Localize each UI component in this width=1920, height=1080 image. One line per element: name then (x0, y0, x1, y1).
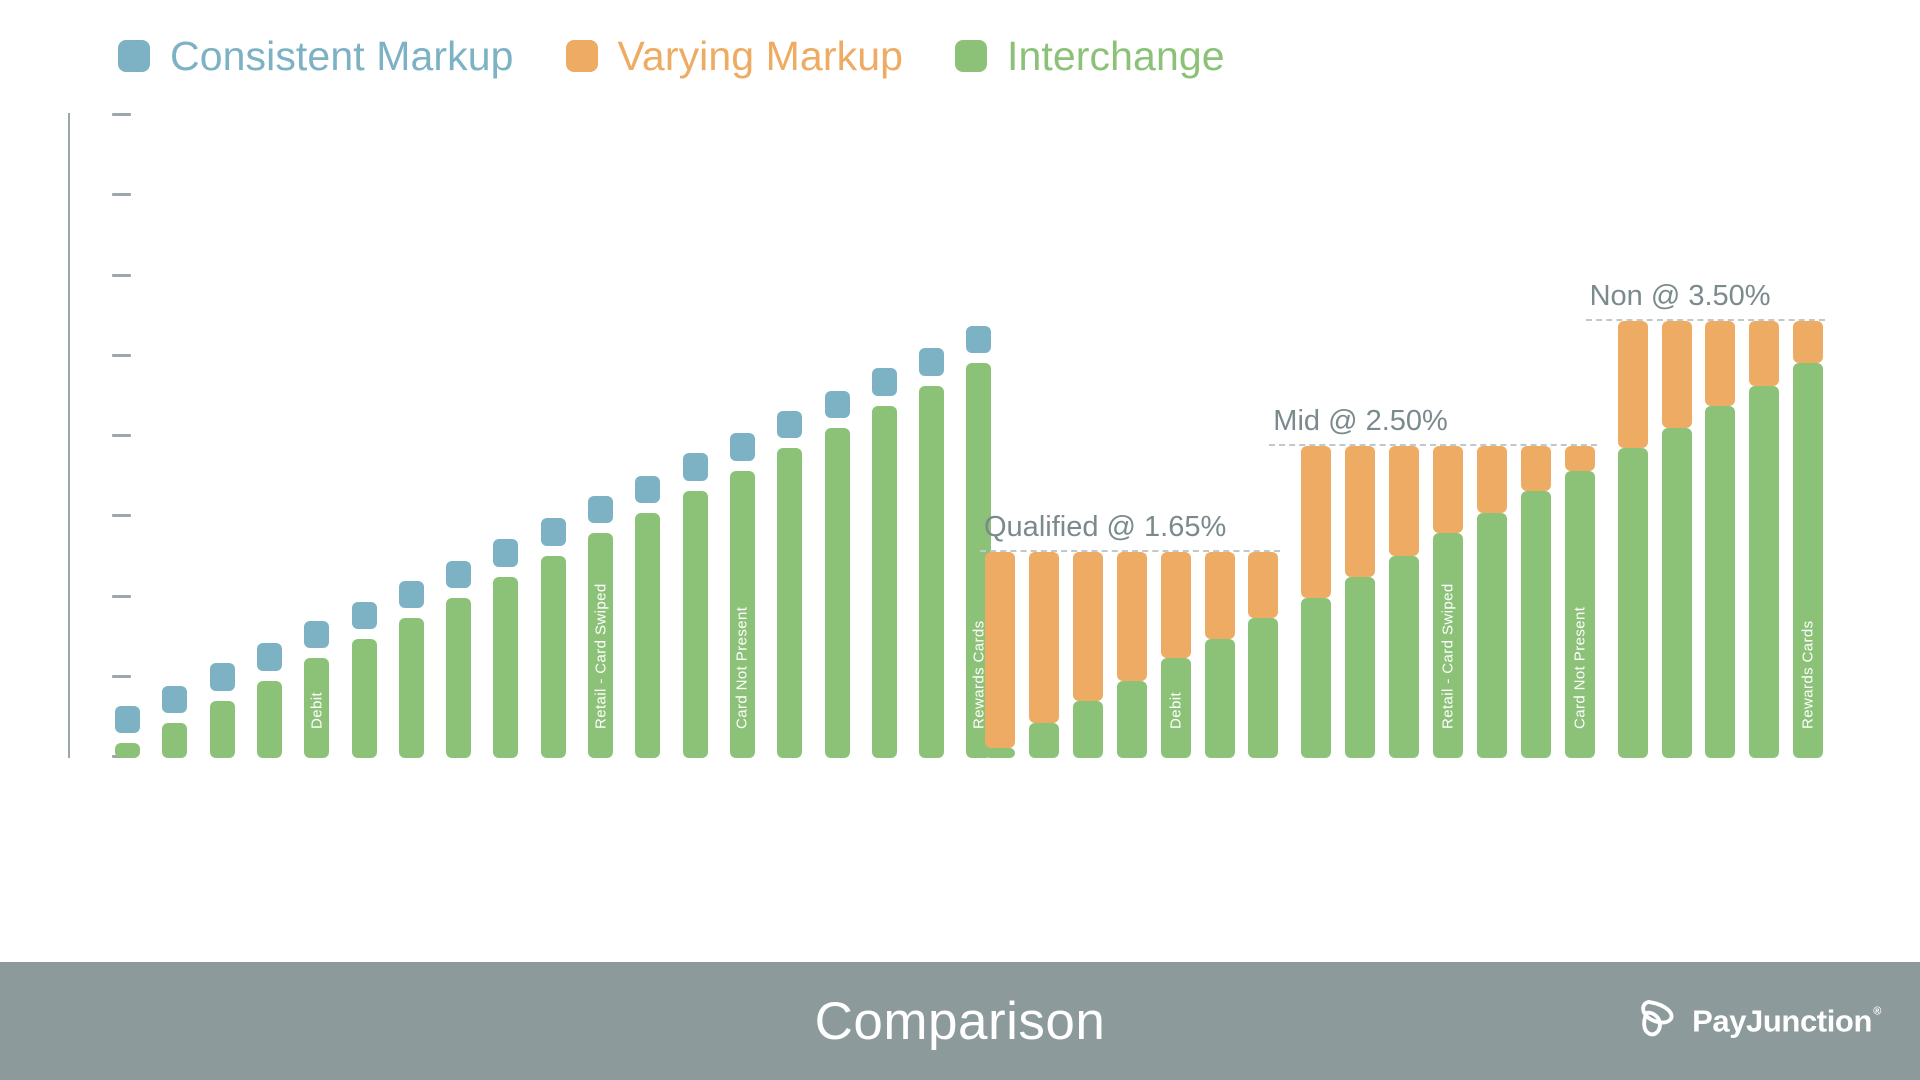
bar-group[interactable] (872, 757, 897, 758)
bar-segment-varying-markup[interactable] (1117, 552, 1147, 681)
bar-group[interactable] (446, 757, 471, 758)
slide-footer-bar: Comparison PayJunction ® (0, 962, 1920, 1080)
bar-segment-consistent-markup[interactable] (635, 476, 660, 504)
bar-group[interactable] (493, 757, 518, 758)
bar-segment-consistent-markup[interactable] (446, 561, 471, 589)
bar-segment-varying-markup[interactable] (1205, 552, 1235, 640)
bar-group[interactable] (352, 757, 377, 758)
bar-group[interactable] (1117, 757, 1147, 758)
bar-segment-interchange[interactable] (683, 491, 708, 759)
bar-segment-interchange[interactable] (115, 743, 140, 758)
bar-segment-consistent-markup[interactable] (683, 453, 708, 481)
bar-segment-interchange[interactable] (985, 748, 1015, 758)
bar-group[interactable] (1618, 757, 1648, 758)
tier-reference-line (980, 550, 1280, 552)
bar-segment-interchange[interactable] (1301, 598, 1331, 758)
bar-segment-consistent-markup[interactable] (919, 348, 944, 376)
bar-segment-consistent-markup[interactable] (825, 391, 850, 419)
bar-group[interactable] (1301, 757, 1331, 758)
bar-group[interactable]: Card Not Present (1565, 757, 1595, 758)
bar-segment-interchange[interactable] (493, 577, 518, 758)
y-axis-line (68, 113, 70, 758)
bar-segment-interchange[interactable] (825, 428, 850, 758)
bar-group[interactable] (399, 757, 424, 758)
bar-segment-interchange[interactable] (1705, 406, 1735, 759)
bar-group[interactable]: Debit (1161, 757, 1191, 758)
y-axis-tick (112, 675, 131, 678)
bar-segment-interchange[interactable] (162, 723, 187, 758)
bar-segment-consistent-markup[interactable] (257, 643, 282, 671)
bar-segment-interchange[interactable] (1433, 533, 1463, 758)
bar-segment-varying-markup[interactable] (1389, 446, 1419, 556)
bar-segment-interchange[interactable] (588, 533, 613, 758)
bar-group[interactable] (1662, 757, 1692, 758)
bar-segment-interchange[interactable] (446, 598, 471, 758)
bar-segment-interchange[interactable] (635, 513, 660, 758)
bar-segment-varying-markup[interactable] (1618, 321, 1648, 449)
bar-segment-varying-markup[interactable] (1073, 552, 1103, 701)
bar-segment-varying-markup[interactable] (1345, 446, 1375, 577)
bar-segment-interchange[interactable] (1205, 639, 1235, 758)
tier-annotation-2: Non @ 3.50% (1586, 267, 1826, 321)
y-axis-tick (112, 595, 131, 598)
bar-segment-interchange[interactable] (919, 386, 944, 759)
bar-segment-consistent-markup[interactable] (966, 326, 991, 354)
bar-group[interactable] (985, 757, 1015, 758)
tier-annotation-0: Qualified @ 1.65% (980, 498, 1280, 552)
bar-segment-varying-markup[interactable] (1477, 446, 1507, 514)
bar-segment-interchange[interactable] (1565, 471, 1595, 759)
bar-segment-interchange[interactable] (399, 618, 424, 758)
bar-segment-interchange[interactable] (1662, 428, 1692, 758)
bar-segment-interchange[interactable] (1029, 723, 1059, 758)
bar-segment-varying-markup[interactable] (1161, 552, 1191, 658)
bar-segment-varying-markup[interactable] (1565, 446, 1595, 471)
bar-segment-varying-markup[interactable] (1029, 552, 1059, 723)
payjunction-loop-logo-icon (1634, 996, 1680, 1047)
bar-segment-consistent-markup[interactable] (210, 663, 235, 691)
tier-reference-line (1269, 444, 1596, 446)
bar-segment-interchange[interactable] (1521, 491, 1551, 759)
bar-segment-interchange[interactable] (1618, 448, 1648, 758)
bar-group[interactable]: Rewards Cards (1793, 757, 1823, 758)
bar-group[interactable] (1205, 757, 1235, 758)
bar-segment-varying-markup[interactable] (1248, 552, 1278, 618)
bar-group[interactable] (1705, 757, 1735, 758)
bar-group[interactable] (1345, 757, 1375, 758)
bar-segment-interchange[interactable] (777, 448, 802, 758)
bar-group[interactable] (162, 757, 187, 758)
bar-group[interactable] (257, 757, 282, 758)
bar-segment-interchange[interactable] (1073, 701, 1103, 759)
bar-segment-consistent-markup[interactable] (872, 368, 897, 396)
bar-group[interactable] (777, 757, 802, 758)
bar-segment-consistent-markup[interactable] (777, 411, 802, 439)
bar-segment-interchange[interactable] (541, 556, 566, 759)
bar-group[interactable] (541, 757, 566, 758)
bar-segment-varying-markup[interactable] (1749, 321, 1779, 386)
bar-segment-varying-markup[interactable] (1793, 321, 1823, 364)
bar-segment-varying-markup[interactable] (1301, 446, 1331, 599)
tier-annotation-1: Mid @ 2.50% (1269, 392, 1596, 446)
bar-segment-interchange[interactable] (1749, 386, 1779, 759)
bar-segment-consistent-markup[interactable] (304, 621, 329, 649)
brand-lockup: PayJunction ® (1634, 996, 1872, 1047)
bar-group[interactable] (1749, 757, 1779, 758)
y-axis-tick (112, 514, 131, 517)
bar-segment-interchange[interactable] (730, 471, 755, 759)
bar-segment-consistent-markup[interactable] (588, 496, 613, 524)
bar-segment-interchange[interactable] (257, 681, 282, 759)
bar-segment-varying-markup[interactable] (1433, 446, 1463, 534)
bar-segment-consistent-markup[interactable] (399, 581, 424, 609)
tier-reference-line (1586, 319, 1826, 321)
bar-segment-varying-markup[interactable] (1662, 321, 1692, 429)
brand-name: PayJunction (1692, 1004, 1872, 1039)
y-axis-tick (112, 354, 131, 357)
chart-plot-area: DebitRetail - Card SwipedCard Not Presen… (0, 0, 1920, 962)
bar-group[interactable]: Retail - Card Swiped (1433, 757, 1463, 758)
bar-group[interactable]: Card Not Present (730, 757, 755, 758)
y-axis-tick (112, 193, 131, 196)
bar-segment-interchange[interactable] (210, 701, 235, 759)
bar-segment-interchange[interactable] (1345, 577, 1375, 758)
bar-group[interactable] (1477, 757, 1507, 758)
registered-mark: ® (1873, 1007, 1881, 1018)
bar-segment-varying-markup[interactable] (1521, 446, 1551, 491)
bar-group[interactable] (1073, 757, 1103, 758)
bar-group[interactable] (635, 757, 660, 758)
bar-group[interactable] (1521, 757, 1551, 758)
brand-wordmark: PayJunction ® (1692, 1006, 1872, 1037)
bar-segment-interchange[interactable] (1161, 658, 1191, 758)
bar-segment-interchange[interactable] (1793, 363, 1823, 758)
bar-segment-consistent-markup[interactable] (730, 433, 755, 461)
bar-group[interactable] (1389, 757, 1419, 758)
bar-segment-interchange[interactable] (304, 658, 329, 758)
bar-group[interactable] (683, 757, 708, 758)
y-axis-tick (112, 274, 131, 277)
bar-segment-consistent-markup[interactable] (162, 686, 187, 714)
y-axis-tick (112, 113, 131, 116)
bar-group[interactable] (1029, 757, 1059, 758)
bar-segment-interchange[interactable] (1477, 513, 1507, 758)
bar-segment-varying-markup[interactable] (1705, 321, 1735, 406)
slide-title: Comparison (0, 962, 1920, 1080)
bar-segment-consistent-markup[interactable] (493, 539, 518, 567)
bar-segment-interchange[interactable] (872, 406, 897, 759)
bar-segment-consistent-markup[interactable] (115, 706, 140, 734)
bar-segment-interchange[interactable] (1389, 556, 1419, 759)
y-axis-tick (112, 434, 131, 437)
bar-group[interactable] (825, 757, 850, 758)
bar-segment-consistent-markup[interactable] (541, 518, 566, 546)
bar-group[interactable]: Debit (304, 757, 329, 758)
bar-segment-consistent-markup[interactable] (352, 602, 377, 630)
bar-group[interactable] (210, 757, 235, 758)
bar-group[interactable] (1248, 757, 1278, 758)
bar-segment-interchange[interactable] (1117, 681, 1147, 759)
tier-label: Qualified @ 1.65% (984, 513, 1226, 542)
tier-label: Non @ 3.50% (1590, 282, 1771, 311)
bar-segment-interchange[interactable] (352, 639, 377, 758)
bar-group[interactable] (919, 757, 944, 758)
bar-segment-interchange[interactable] (1248, 618, 1278, 758)
bar-segment-varying-markup[interactable] (985, 552, 1015, 748)
bar-group[interactable] (115, 757, 140, 758)
tier-label: Mid @ 2.50% (1273, 407, 1448, 436)
bar-group[interactable]: Retail - Card Swiped (588, 757, 613, 758)
